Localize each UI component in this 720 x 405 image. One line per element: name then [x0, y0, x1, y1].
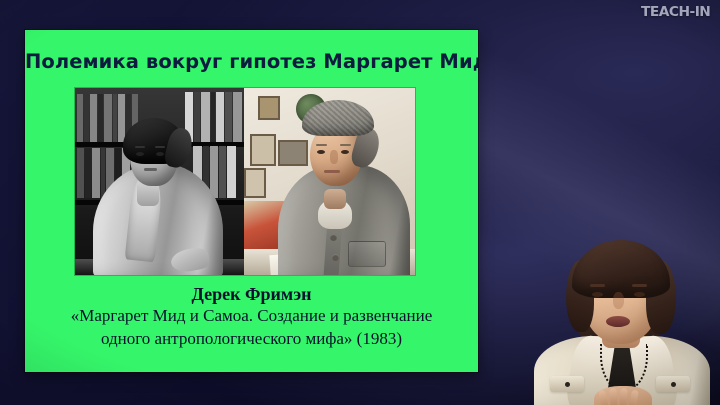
presenter-hair-front — [572, 240, 670, 298]
teach-in-watermark: TEACH-IN — [641, 5, 710, 20]
caption-line-2: одного антропологического мифа» (1983) — [25, 328, 478, 351]
presenter-button-left — [565, 382, 570, 387]
slide-image-strip — [75, 88, 415, 275]
presenter-button-right — [671, 382, 676, 387]
presenter-finger-3 — [619, 388, 627, 405]
presenter-video — [520, 236, 720, 405]
derek-freeman-photo — [244, 88, 415, 275]
presenter-nose — [613, 292, 624, 309]
caption-line-1: «Маргарет Мид и Самоа. Создание и развен… — [25, 305, 478, 328]
slide-caption: Дерек Фримэн «Маргарет Мид и Самоа. Созд… — [25, 283, 478, 350]
margaret-mead-photo — [75, 88, 244, 275]
presentation-slide: Полемика вокруг гипотез Маргарет Мид — [25, 30, 478, 372]
presenter-eye-right — [634, 292, 645, 297]
presenter-mouth — [606, 316, 630, 327]
slide-title: Полемика вокруг гипотез Маргарет Мид — [25, 50, 478, 73]
video-frame: Полемика вокруг гипотез Маргарет Мид — [0, 0, 720, 405]
presenter-finger-2 — [609, 388, 617, 405]
presenter-eye-left — [592, 292, 603, 297]
presenter-brow-right — [632, 284, 647, 287]
caption-author-name: Дерек Фримэн — [25, 283, 478, 305]
presenter-brow-left — [590, 284, 605, 287]
